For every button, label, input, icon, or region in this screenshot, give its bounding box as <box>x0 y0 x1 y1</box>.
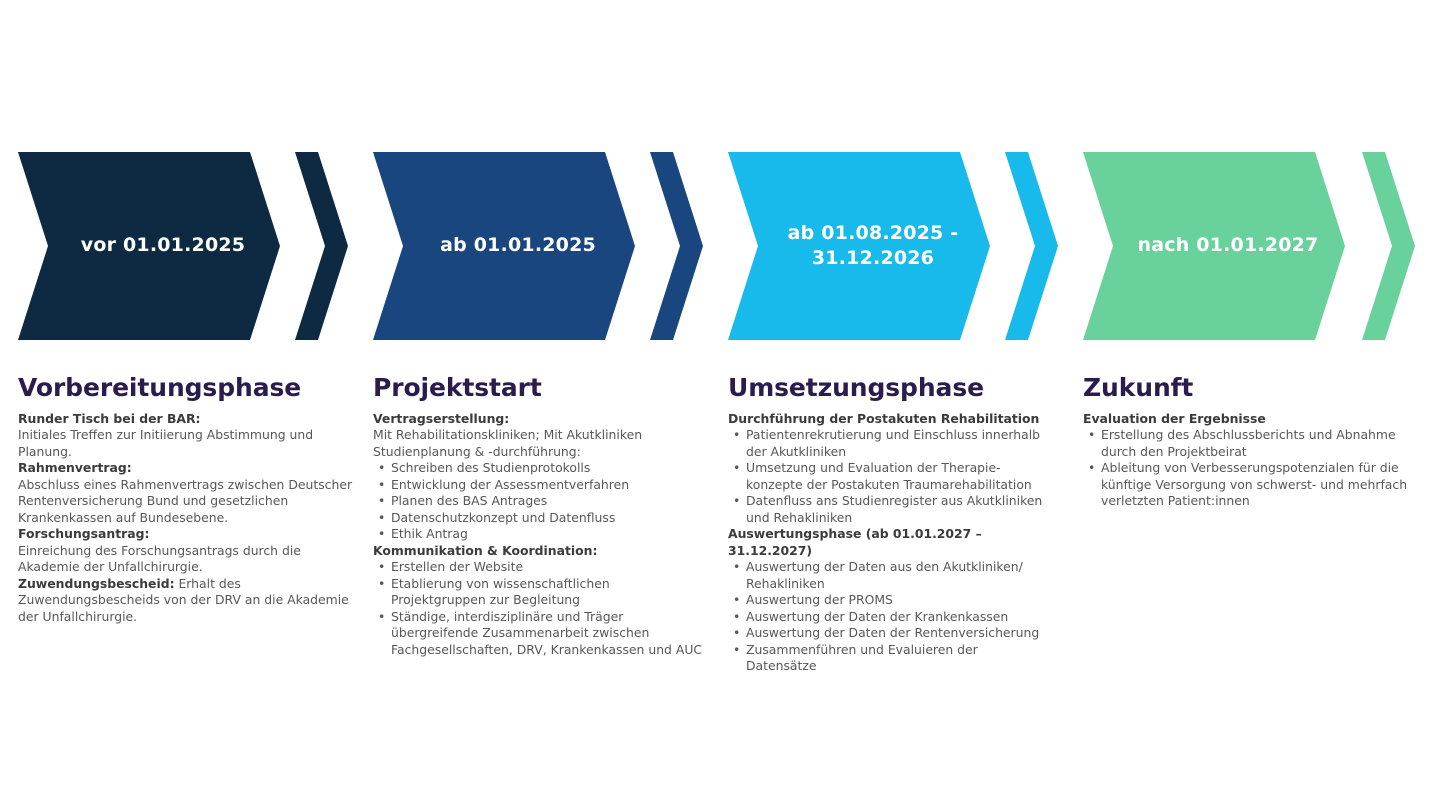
phase-block-list: Patientenrekrutierung und Einschluss inn… <box>728 427 1048 526</box>
phase-column-projektstart: Projektstart Vertragserstellung:Mit Reha… <box>373 374 705 658</box>
phase-banner-vorbereitungsphase[interactable] <box>18 152 348 340</box>
phase-banner-zukunft[interactable] <box>1083 152 1415 340</box>
list-item: Auswertung der PROMS <box>728 592 1048 609</box>
phase-block: Studienplanung & -durchführung:Schreiben… <box>373 444 705 543</box>
phase-block: Kommunikation & Koordination:Erstellen d… <box>373 543 705 659</box>
chevron-shape-4 <box>1083 152 1415 340</box>
phase-block-heading: Auswertungsphase (ab 01.01.2027 – 31.12.… <box>728 526 1048 559</box>
chevron-body-icon <box>728 152 990 340</box>
chevron-arrow-icon <box>1005 152 1058 340</box>
chevron-shape-1 <box>18 152 348 340</box>
list-item: Ethik Antrag <box>373 526 705 543</box>
phase-block: Zuwendungsbescheid: Erhalt desZuwendungs… <box>18 576 358 626</box>
phase-block: Runder Tisch bei der BAR:Initiales Treff… <box>18 411 358 461</box>
phase-block-heading: Kommunikation & Koordination: <box>373 543 705 560</box>
phase-block-heading: Vertragserstellung: <box>373 411 705 428</box>
list-item: Etablierung von wissenschaftlichen Proje… <box>373 576 705 609</box>
phase-block-list: Schreiben des StudienprotokollsEntwicklu… <box>373 460 705 543</box>
list-item: Zusammenführen und Evaluieren der Datens… <box>728 642 1048 675</box>
chevron-shape-2 <box>373 152 703 340</box>
phase-block-heading: Studienplanung & -durchführung: <box>373 444 705 461</box>
chevron-body-icon <box>1083 152 1345 340</box>
phase-block-paragraph: Initiales Treffen zur Initiierung Abstim… <box>18 427 358 460</box>
chevron-body-icon <box>18 152 280 340</box>
phase-block: Rahmenvertrag:Abschluss eines Rahmenvert… <box>18 460 358 526</box>
chevron-arrow-icon <box>295 152 348 340</box>
phase-block-heading: Zuwendungsbescheid: Erhalt des <box>18 576 358 593</box>
phase-blocks: Durchführung der Postakuten Rehabilitati… <box>728 411 1048 675</box>
list-item: Auswertung der Daten aus den Akutklinike… <box>728 559 1048 592</box>
phase-title-zukunft: Zukunft <box>1083 374 1413 402</box>
phase-block: Durchführung der Postakuten Rehabilitati… <box>728 411 1048 527</box>
list-item: Auswertung der Daten der Krankenkassen <box>728 609 1048 626</box>
phase-block-paragraph: Zuwendungsbescheids von der DRV an die A… <box>18 592 358 625</box>
phase-block: Evaluation der ErgebnisseErstellung des … <box>1083 411 1413 510</box>
list-item: Ständige, interdisziplinäre und Träger ü… <box>373 609 705 659</box>
list-item: Schreiben des Studienprotokolls <box>373 460 705 477</box>
list-item: Entwicklung der Assessmentverfahren <box>373 477 705 494</box>
phase-block-heading-trailing: Erhalt des <box>175 576 241 591</box>
phase-block-heading: Runder Tisch bei der BAR: <box>18 411 358 428</box>
phase-blocks: Evaluation der ErgebnisseErstellung des … <box>1083 411 1413 510</box>
phase-blocks: Vertragserstellung:Mit Rehabilitationskl… <box>373 411 705 659</box>
chevron-arrow-icon <box>1362 152 1415 340</box>
phase-block-paragraph: Abschluss eines Rahmenvertrags zwischen … <box>18 477 358 527</box>
phase-banner-projektstart[interactable] <box>373 152 703 340</box>
phase-title-vorbereitungsphase: Vorbereitungsphase <box>18 374 358 402</box>
phase-column-umsetzungsphase: Umsetzungsphase Durchführung der Postaku… <box>728 374 1048 675</box>
phase-blocks: Runder Tisch bei der BAR:Initiales Treff… <box>18 411 358 626</box>
phase-column-zukunft: Zukunft Evaluation der ErgebnisseErstell… <box>1083 374 1413 510</box>
phase-block: Vertragserstellung:Mit Rehabilitationskl… <box>373 411 705 444</box>
phase-block-list: Erstellen der WebsiteEtablierung von wis… <box>373 559 705 658</box>
phase-block-paragraph: Mit Rehabilitationskliniken; Mit Akutkli… <box>373 427 705 444</box>
list-item: Erstellen der Website <box>373 559 705 576</box>
phase-banner-umsetzungsphase[interactable] <box>728 152 1058 340</box>
phase-timeline-band: vor 01.01.2025 ab 01.01.2025 ab 01.08.20… <box>0 152 1440 340</box>
list-item: Umsetzung und Evaluation der Therapie-ko… <box>728 460 1048 493</box>
list-item: Datenschutzkonzept und Datenfluss <box>373 510 705 527</box>
phase-block-heading: Rahmenvertrag: <box>18 460 358 477</box>
phase-title-umsetzungsphase: Umsetzungsphase <box>728 374 1048 402</box>
list-item: Erstellung des Abschlussberichts und Abn… <box>1083 427 1413 460</box>
phase-column-vorbereitungsphase: Vorbereitungsphase Runder Tisch bei der … <box>18 374 358 625</box>
chevron-body-icon <box>373 152 635 340</box>
phase-block-heading: Forschungsantrag: <box>18 526 358 543</box>
list-item: Datenfluss ans Studienregister aus Akutk… <box>728 493 1048 526</box>
chevron-shape-3 <box>728 152 1058 340</box>
list-item: Auswertung der Daten der Rentenversicher… <box>728 625 1048 642</box>
phase-block-paragraph: Einreichung des Forschungsantrags durch … <box>18 543 358 576</box>
list-item: Ableitung von Verbesserungspotenzialen f… <box>1083 460 1413 510</box>
phase-title-projektstart: Projektstart <box>373 374 705 402</box>
phase-block: Auswertungsphase (ab 01.01.2027 – 31.12.… <box>728 526 1048 675</box>
list-item: Planen des BAS Antrages <box>373 493 705 510</box>
phase-block-heading: Evaluation der Ergebnisse <box>1083 411 1413 428</box>
chevron-arrow-icon <box>650 152 703 340</box>
phase-block-list: Erstellung des Abschlussberichts und Abn… <box>1083 427 1413 510</box>
phase-block-list: Auswertung der Daten aus den Akutklinike… <box>728 559 1048 675</box>
list-item: Patientenrekrutierung und Einschluss inn… <box>728 427 1048 460</box>
phase-block-heading: Durchführung der Postakuten Rehabilitati… <box>728 411 1048 428</box>
phase-block: Forschungsantrag:Einreichung des Forschu… <box>18 526 358 576</box>
